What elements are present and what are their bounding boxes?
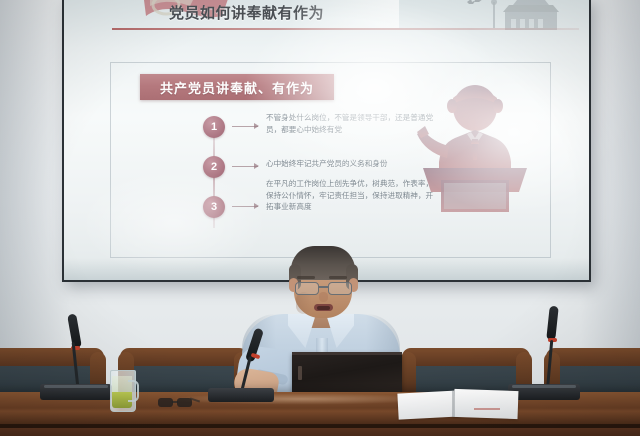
laptop-lid-edge (292, 352, 402, 355)
eyebrow-left (297, 276, 315, 279)
step-text: 在平凡的工作岗位上创先争优，树典范，作表率，保持公仆情怀，牢记责任担当，保持进取… (266, 178, 434, 213)
table-front-panel (0, 428, 640, 436)
document-spine (452, 391, 455, 417)
step-arrow-icon (232, 166, 258, 167)
step-number-badge: 3 (203, 196, 225, 218)
document-red-marking (474, 408, 500, 410)
eyeglass-lens-right (328, 282, 352, 295)
document-page-right (454, 389, 519, 419)
slide-header-rule (112, 28, 579, 30)
face-shadow (296, 292, 312, 314)
eyeglass-lens-left (295, 282, 319, 295)
gooseneck-microphone-left[interactable] (40, 318, 120, 400)
table-glasses-bridge (172, 401, 178, 403)
step-number-badge: 1 (203, 116, 225, 138)
eyeglass-bridge (318, 286, 328, 288)
table-glasses-lens-left (158, 398, 173, 407)
slide-banner: 共产党员讲奉献、有作为 (140, 74, 334, 100)
eyeglasses-on-table[interactable] (158, 398, 198, 410)
projection-screen: 党员如何讲奉献有作为 共产党员讲奉献、有作为 1 不管身处什么岗位，不管是领导干… (62, 0, 591, 282)
step-arrow-icon (232, 126, 258, 127)
mug-handle (128, 380, 139, 402)
speaker-at-podium-icon (415, 84, 535, 222)
mouth-interior (317, 306, 330, 310)
gooseneck-microphone-center[interactable] (198, 340, 278, 402)
microphone-head (546, 306, 559, 341)
step-number-badge: 2 (203, 156, 225, 178)
slide-header: 党员如何讲奉献有作为 (64, 0, 589, 34)
nose (319, 292, 328, 302)
eyebrow-right (329, 276, 347, 279)
slide-step-list: 1 不管身处什么岗位，不管是领导干部，还是普通党员，都要心中始终有党 2 心中始… (200, 116, 430, 232)
glass-tea-mug[interactable] (110, 370, 138, 410)
conference-room-photo: 党员如何讲奉献有作为 共产党员讲奉献、有作为 1 不管身处什么岗位，不管是领导干… (0, 0, 640, 436)
step-arrow-icon (232, 206, 258, 207)
slide-title: 党员如何讲奉献有作为 (169, 2, 324, 23)
microphone-base-highlight (44, 385, 108, 388)
laptop-latch (298, 366, 302, 380)
open-documents[interactable] (398, 388, 518, 422)
slide-banner-text: 共产党员讲奉献、有作为 (160, 78, 314, 97)
microphone-base-highlight (512, 385, 576, 388)
step-text: 不管身处什么岗位，不管是领导干部，还是普通党员，都要心中始终有党 (266, 112, 434, 135)
step-text: 心中始终牢记共产党员的义务和身份 (266, 158, 434, 170)
projection-screen-surface: 党员如何讲奉献有作为 共产党员讲奉献、有作为 1 不管身处什么岗位，不管是领导干… (64, 0, 589, 280)
gooseneck-microphone-right[interactable] (508, 306, 588, 400)
microphone-base (208, 388, 274, 402)
